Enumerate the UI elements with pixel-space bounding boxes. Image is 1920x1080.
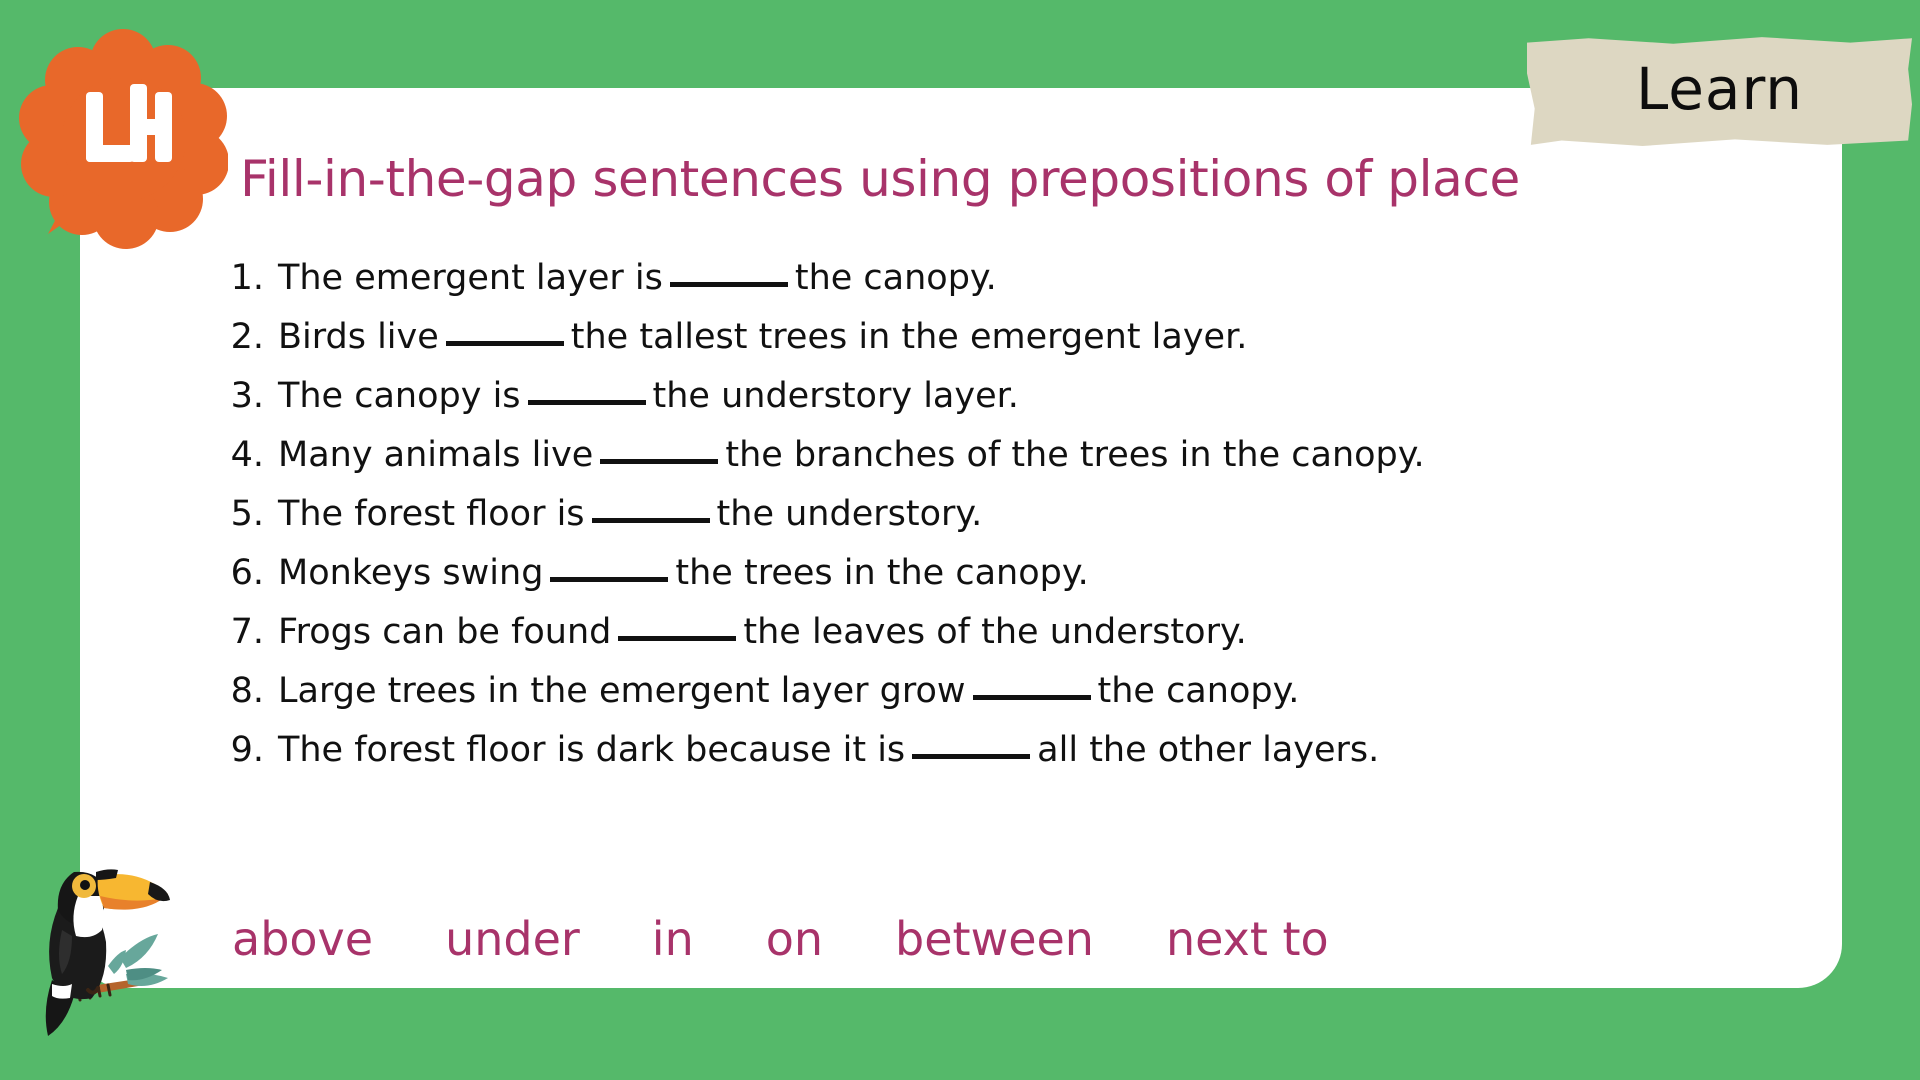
question-text-before: The forest floor is dark because it is: [278, 730, 905, 770]
toucan-icon: [22, 838, 202, 1046]
question-text-before: The forest floor is: [278, 494, 585, 534]
word-bank-item-in[interactable]: in: [652, 912, 694, 966]
answer-blank[interactable]: [670, 282, 788, 287]
answer-blank[interactable]: [550, 577, 668, 582]
question-text-after: the branches of the trees in the canopy.: [725, 435, 1424, 475]
question-number: 7.: [212, 612, 278, 652]
question-text-before: Many animals live: [278, 435, 593, 475]
learn-badge-label: Learn: [1527, 36, 1912, 146]
answer-blank[interactable]: [618, 636, 736, 641]
question-row: 7. Frogs can be found the leaves of the …: [212, 612, 1832, 671]
word-bank-item-under[interactable]: under: [445, 912, 580, 966]
question-number: 1.: [212, 258, 278, 298]
question-number: 3.: [212, 376, 278, 416]
word-bank-item-between[interactable]: between: [895, 912, 1094, 966]
question-text-after: the leaves of the understory.: [743, 612, 1246, 652]
question-text: The forest floor is dark because it is a…: [278, 730, 1379, 770]
question-text-after: the understory.: [717, 494, 983, 534]
answer-blank[interactable]: [446, 341, 564, 346]
question-text: Large trees in the emergent layer grow t…: [278, 671, 1299, 711]
question-row: 5. The forest floor is the understory.: [212, 494, 1832, 553]
answer-blank[interactable]: [912, 754, 1030, 759]
question-text-after: the understory layer.: [653, 376, 1019, 416]
question-text-after: the trees in the canopy.: [675, 553, 1088, 593]
question-text: Birds live the tallest trees in the emer…: [278, 317, 1247, 357]
lh-logo-icon: [18, 24, 228, 254]
question-row: 8. Large trees in the emergent layer gro…: [212, 671, 1832, 730]
lh-logo: [18, 24, 228, 254]
question-text-before: Monkeys swing: [278, 553, 543, 593]
question-row: 2. Birds live the tallest trees in the e…: [212, 317, 1832, 376]
question-row: 6. Monkeys swing the trees in the canopy…: [212, 553, 1832, 612]
page-title: Fill-in-the-gap sentences using preposit…: [80, 150, 1680, 208]
question-text-before: The emergent layer is: [278, 258, 663, 298]
question-text-before: Birds live: [278, 317, 439, 357]
word-bank-item-on[interactable]: on: [766, 912, 823, 966]
toucan-illustration: [22, 838, 202, 1046]
question-number: 4.: [212, 435, 278, 475]
slide-canvas: Learn Fill-in-the-gap sentences using pr…: [0, 0, 1920, 1080]
question-text-before: The canopy is: [278, 376, 521, 416]
learn-badge: Learn: [1527, 36, 1912, 146]
question-row: 9. The forest floor is dark because it i…: [212, 730, 1832, 789]
question-text-after: the canopy.: [795, 258, 997, 298]
question-number: 2.: [212, 317, 278, 357]
word-bank: above under in on between next to: [232, 912, 1329, 966]
question-text: Many animals live the branches of the tr…: [278, 435, 1425, 475]
question-list: 1. The emergent layer is the canopy. 2. …: [212, 258, 1832, 789]
question-text-after: the tallest trees in the emergent layer.: [571, 317, 1248, 357]
question-text-after: all the other layers.: [1037, 730, 1379, 770]
question-text: The canopy is the understory layer.: [278, 376, 1019, 416]
answer-blank[interactable]: [592, 518, 710, 523]
question-row: 3. The canopy is the understory layer.: [212, 376, 1832, 435]
question-text-before: Large trees in the emergent layer grow: [278, 671, 966, 711]
question-number: 5.: [212, 494, 278, 534]
word-bank-item-above[interactable]: above: [232, 912, 373, 966]
question-text-before: Frogs can be found: [278, 612, 611, 652]
answer-blank[interactable]: [973, 695, 1091, 700]
question-text-after: the canopy.: [1098, 671, 1300, 711]
question-text: The forest floor is the understory.: [278, 494, 982, 534]
question-row: 4. Many animals live the branches of the…: [212, 435, 1832, 494]
question-row: 1. The emergent layer is the canopy.: [212, 258, 1832, 317]
question-number: 8.: [212, 671, 278, 711]
question-text: Frogs can be found the leaves of the und…: [278, 612, 1247, 652]
word-bank-item-next-to[interactable]: next to: [1166, 912, 1329, 966]
answer-blank[interactable]: [528, 400, 646, 405]
question-number: 6.: [212, 553, 278, 593]
answer-blank[interactable]: [600, 459, 718, 464]
question-number: 9.: [212, 730, 278, 770]
question-text: The emergent layer is the canopy.: [278, 258, 997, 298]
question-text: Monkeys swing the trees in the canopy.: [278, 553, 1089, 593]
